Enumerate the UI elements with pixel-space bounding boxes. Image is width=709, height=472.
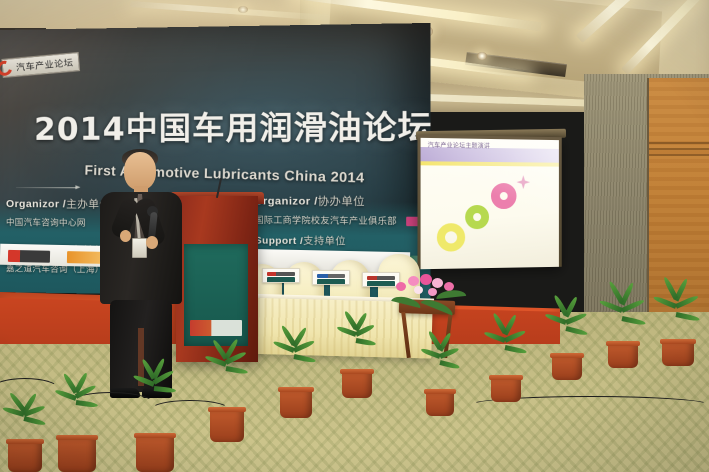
co-organizer-name: 中欧国际工商学院校友汽车产业俱乐部 — [236, 214, 431, 228]
plant-pot — [58, 438, 96, 472]
potted-plant — [414, 338, 470, 416]
organizer-block: Organizor /主办单位 中国汽车咨询中心网 — [6, 196, 111, 229]
podium-front-panel — [184, 244, 248, 346]
potted-plant — [196, 346, 262, 442]
potted-plant — [594, 296, 652, 368]
co-organizer-label: Co-organizor /协办单位 — [236, 193, 431, 210]
plant-pot — [136, 436, 174, 472]
plant-pot — [8, 442, 42, 472]
flower-petal — [396, 282, 406, 291]
organizer-name: 中国汽车咨询中心网 — [6, 216, 111, 229]
forum-logo-text: 汽车产业论坛 — [16, 59, 74, 74]
flower-petal — [414, 286, 423, 294]
support-label-en: Support / — [255, 235, 303, 247]
potted-plant — [266, 332, 328, 418]
palm-frond — [356, 338, 377, 346]
flower-petal — [420, 274, 432, 285]
palm-frond — [226, 366, 249, 375]
flower-petal — [432, 278, 443, 288]
conference-photo-scene: 汽车产业论坛 2014中国车用润滑油论坛 First Automotive Lu… — [0, 0, 709, 472]
potted-plant — [330, 318, 388, 398]
projection-screen: 汽车产业论坛主题演讲 — [421, 138, 559, 269]
plant-pot — [342, 372, 372, 398]
foliage — [436, 289, 467, 299]
potted-plant — [478, 324, 536, 402]
palm-frond — [154, 386, 176, 393]
downlight-icon — [477, 52, 487, 60]
speaker-left-hand — [120, 230, 131, 242]
plant-pot — [491, 378, 521, 402]
name-badge — [132, 238, 147, 258]
organizer-label: Organizor /主办单位 — [6, 196, 111, 212]
potted-plant — [120, 366, 190, 472]
palm-frond — [675, 312, 700, 322]
potted-plant — [538, 306, 598, 380]
plant-pot — [552, 356, 582, 380]
plant-pot — [608, 344, 638, 368]
co-organizer-label-cn: 协办单位 — [318, 195, 365, 208]
palm-frond — [504, 345, 527, 354]
palm-frond — [621, 316, 646, 326]
support-label: Support /支持单位 — [255, 232, 430, 248]
seat-card — [312, 270, 350, 285]
sponsor-logo-sina — [8, 250, 50, 263]
plant-pot — [662, 342, 694, 366]
seat-card — [262, 268, 300, 283]
palm-frond — [565, 326, 588, 336]
support-label-cn: 支持单位 — [303, 236, 346, 248]
banner-title: 2014中国车用润滑油论坛 — [34, 101, 430, 149]
potted-plant — [44, 378, 112, 472]
flower-petal — [408, 276, 419, 286]
palm-frond — [553, 294, 568, 316]
palm-frond — [23, 416, 46, 426]
downlight-icon — [238, 6, 248, 13]
projection-screen-frame: 汽车产业论坛主题演讲 — [417, 135, 561, 270]
screen-glare — [421, 138, 559, 269]
divider-arrow — [16, 187, 76, 188]
podium-logo — [190, 320, 242, 336]
plant-pot — [280, 390, 312, 418]
palm-frond — [439, 360, 460, 370]
circular-swoosh-icon — [0, 58, 15, 79]
potted-plant — [646, 292, 708, 366]
speaker-right-hand — [146, 236, 158, 249]
flower-petal — [428, 288, 437, 296]
organizer-label-en: Organizor / — [6, 198, 66, 210]
plant-pot — [426, 392, 454, 416]
plant-pot — [210, 410, 244, 442]
palm-frond — [76, 400, 98, 408]
co-organizer-block: Co-organizor /协办单位 中欧国际工商学院校友汽车产业俱乐部 — [236, 193, 431, 228]
speaker-head — [124, 152, 156, 190]
flower-arrangement — [392, 272, 468, 306]
palm-frond — [293, 354, 316, 363]
